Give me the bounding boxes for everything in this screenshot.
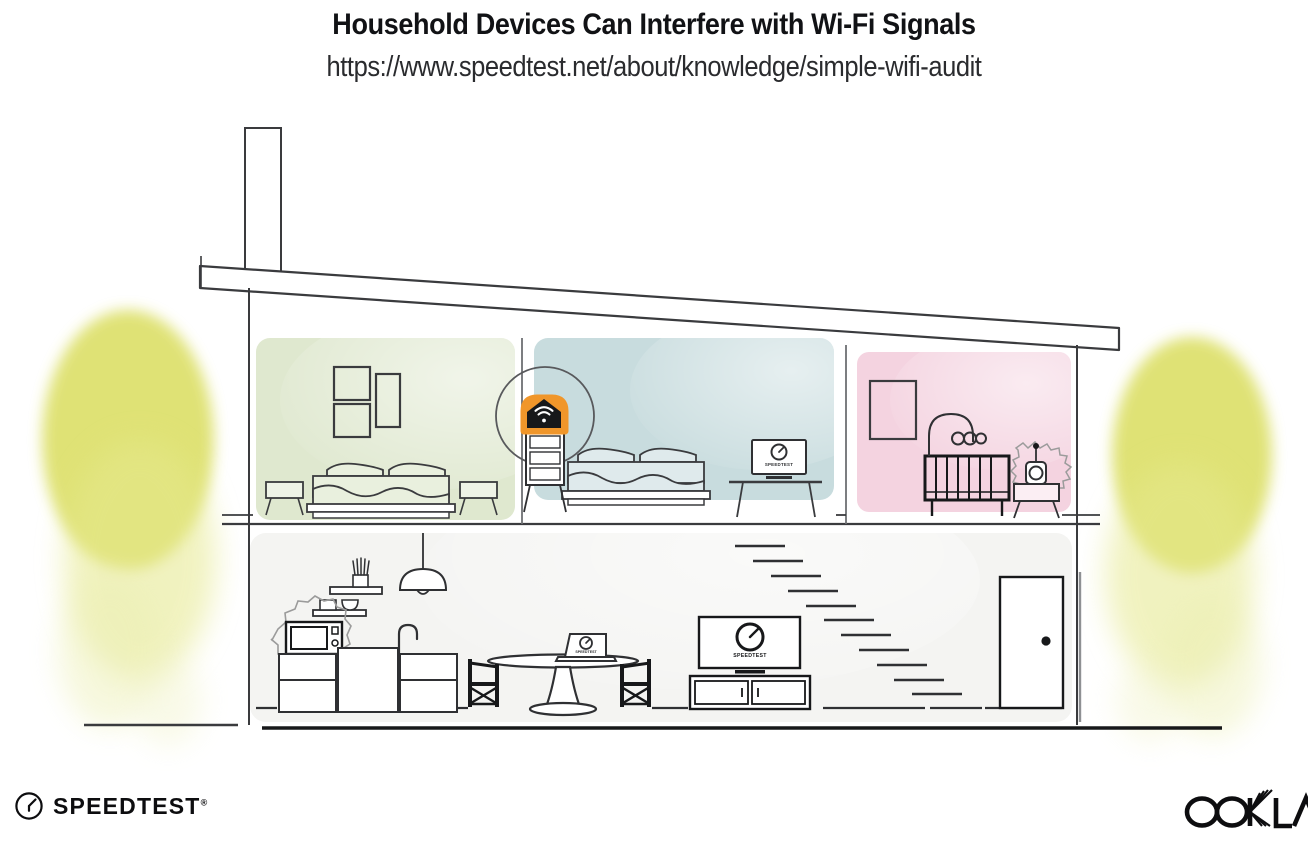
bed-left-bedroom xyxy=(307,464,455,518)
ground-line xyxy=(84,725,1222,728)
monitor: SPEEDTEST xyxy=(752,440,806,479)
speedtest-gauge-icon xyxy=(14,791,44,821)
speedtest-trademark: ® xyxy=(201,797,208,807)
speedtest-wordmark-text: SPEEDTEST xyxy=(53,793,201,819)
infographic-page: Household Devices Can Interfere with Wi-… xyxy=(0,0,1308,861)
microwave xyxy=(286,622,342,654)
nightstand-nursery xyxy=(1014,484,1059,518)
room-bedroom-middle: SPEEDTEST xyxy=(534,310,890,517)
media-console xyxy=(690,676,810,709)
front-door xyxy=(1000,577,1063,708)
header: Household Devices Can Interfere with Wi-… xyxy=(0,0,1308,84)
speedtest-logo: SPEEDTEST® xyxy=(14,791,207,821)
kitchen-counter xyxy=(279,648,457,712)
source-url: https://www.speedtest.net/about/knowledg… xyxy=(78,42,1229,84)
television: SPEEDTEST xyxy=(699,617,800,674)
house-illustration: SPEEDTEST xyxy=(0,0,1308,861)
door-knob-icon xyxy=(1041,636,1050,645)
wifi-router xyxy=(524,398,565,431)
svg-text:SPEEDTEST: SPEEDTEST xyxy=(575,650,597,654)
room-nursery xyxy=(857,330,1110,518)
ookla-logo: ® xyxy=(1180,787,1308,831)
speedtest-wordmark: SPEEDTEST® xyxy=(53,793,207,820)
chimney xyxy=(245,128,281,288)
monitor-screen-label: SPEEDTEST xyxy=(765,462,793,467)
ookla-logo-icon: ® xyxy=(1180,787,1308,831)
tree-right xyxy=(1106,337,1272,742)
footer: SPEEDTEST® xyxy=(0,771,1308,861)
sloped-roof-slab xyxy=(200,256,1119,350)
tv-screen-label: SPEEDTEST xyxy=(733,653,767,659)
tree-left xyxy=(42,310,216,746)
page-title: Household Devices Can Interfere with Wi-… xyxy=(65,0,1242,42)
